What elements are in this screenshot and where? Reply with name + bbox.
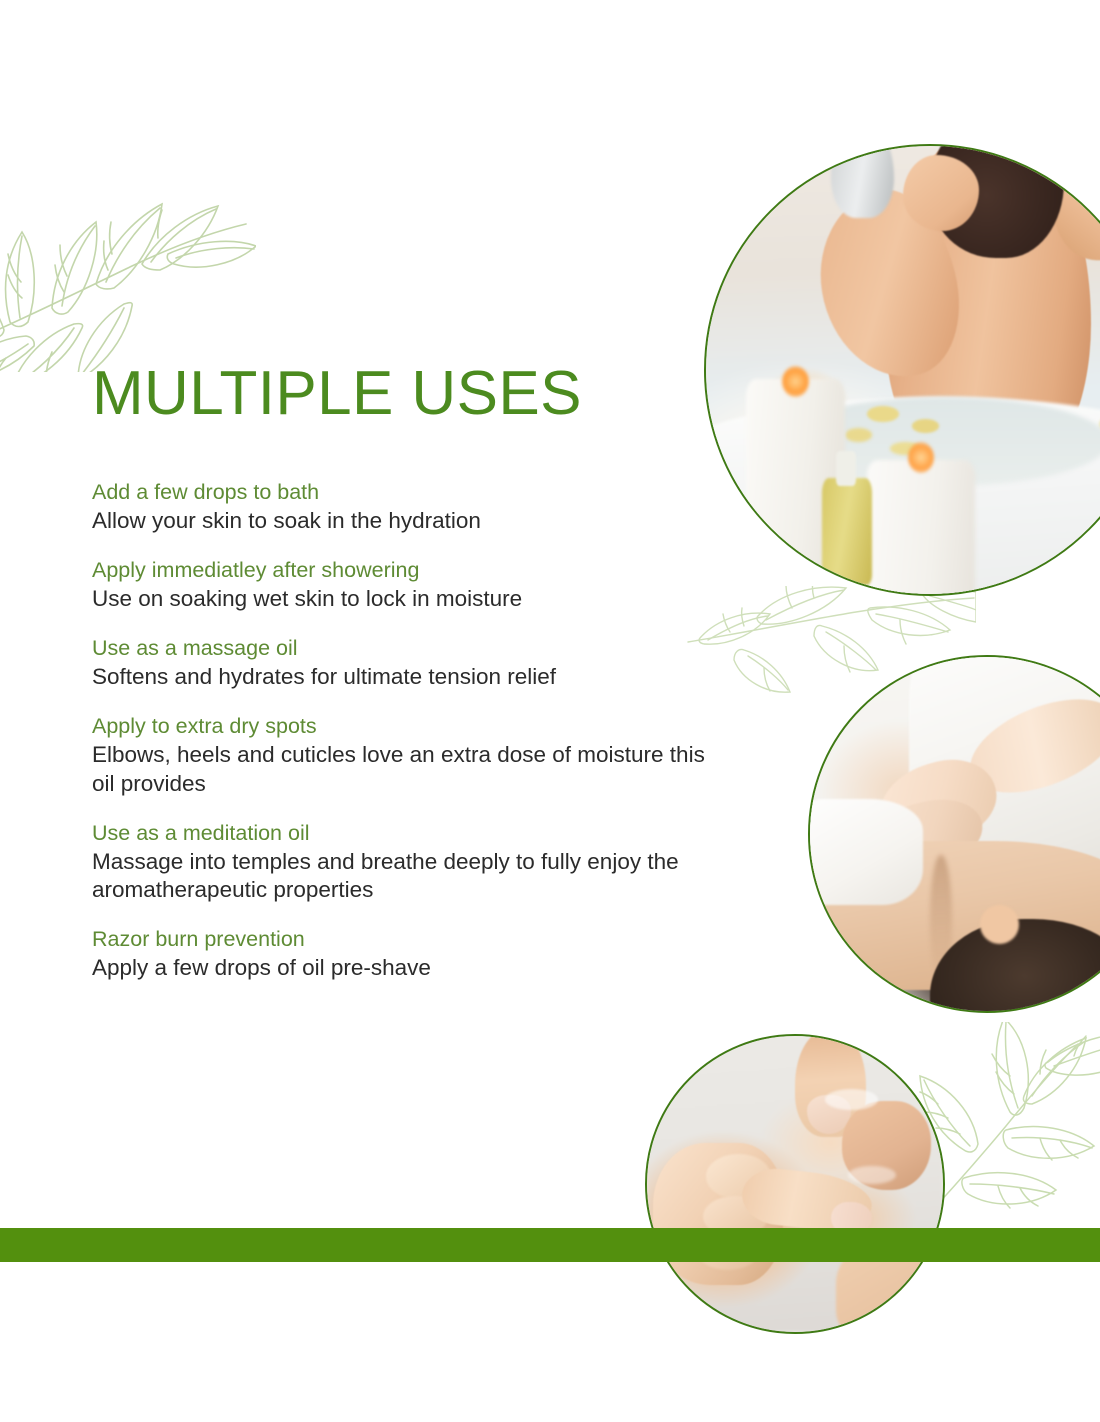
use-item-massage-oil: Use as a massage oil Softens and hydrate…	[92, 634, 707, 691]
use-heading: Add a few drops to bath	[92, 478, 707, 507]
leaf-branch-top-left-icon	[0, 132, 256, 372]
use-heading: Use as a meditation oil	[92, 819, 707, 848]
use-detail: Massage into temples and breathe deeply …	[92, 848, 707, 905]
use-heading: Apply to extra dry spots	[92, 712, 707, 741]
use-detail: Apply a few drops of oil pre-shave	[92, 954, 707, 982]
photo-subject-massage	[810, 657, 1100, 1011]
use-heading: Apply immediatley after showering	[92, 556, 707, 585]
use-item-razor-burn: Razor burn prevention Apply a few drops …	[92, 925, 707, 982]
footer-accent-band	[0, 1228, 1100, 1262]
hands-cuticles-photo	[645, 1034, 945, 1334]
use-item-after-showering: Apply immediatley after showering Use on…	[92, 556, 707, 613]
use-heading: Razor burn prevention	[92, 925, 707, 954]
use-detail: Allow your skin to soak in the hydration	[92, 507, 707, 535]
woman-in-bathtub-photo	[704, 144, 1100, 596]
use-detail: Use on soaking wet skin to lock in moist…	[92, 585, 707, 613]
use-item-meditation-oil: Use as a meditation oil Massage into tem…	[92, 819, 707, 904]
use-item-bath: Add a few drops to bath Allow your skin …	[92, 478, 707, 535]
use-detail: Softens and hydrates for ultimate tensio…	[92, 663, 707, 691]
product-infographic-page: MULTIPLE USES Add a few drops to bath Al…	[0, 0, 1100, 1422]
use-item-extra-dry-spots: Apply to extra dry spots Elbows, heels a…	[92, 712, 707, 797]
page-title: MULTIPLE USES	[92, 362, 582, 425]
photo-subject-hands	[647, 1036, 943, 1332]
uses-list: Add a few drops to bath Allow your skin …	[92, 478, 707, 983]
use-detail: Elbows, heels and cuticles love an extra…	[92, 741, 707, 798]
use-heading: Use as a massage oil	[92, 634, 707, 663]
photo-subject-bathtub	[706, 146, 1100, 594]
back-massage-photo	[808, 655, 1100, 1013]
